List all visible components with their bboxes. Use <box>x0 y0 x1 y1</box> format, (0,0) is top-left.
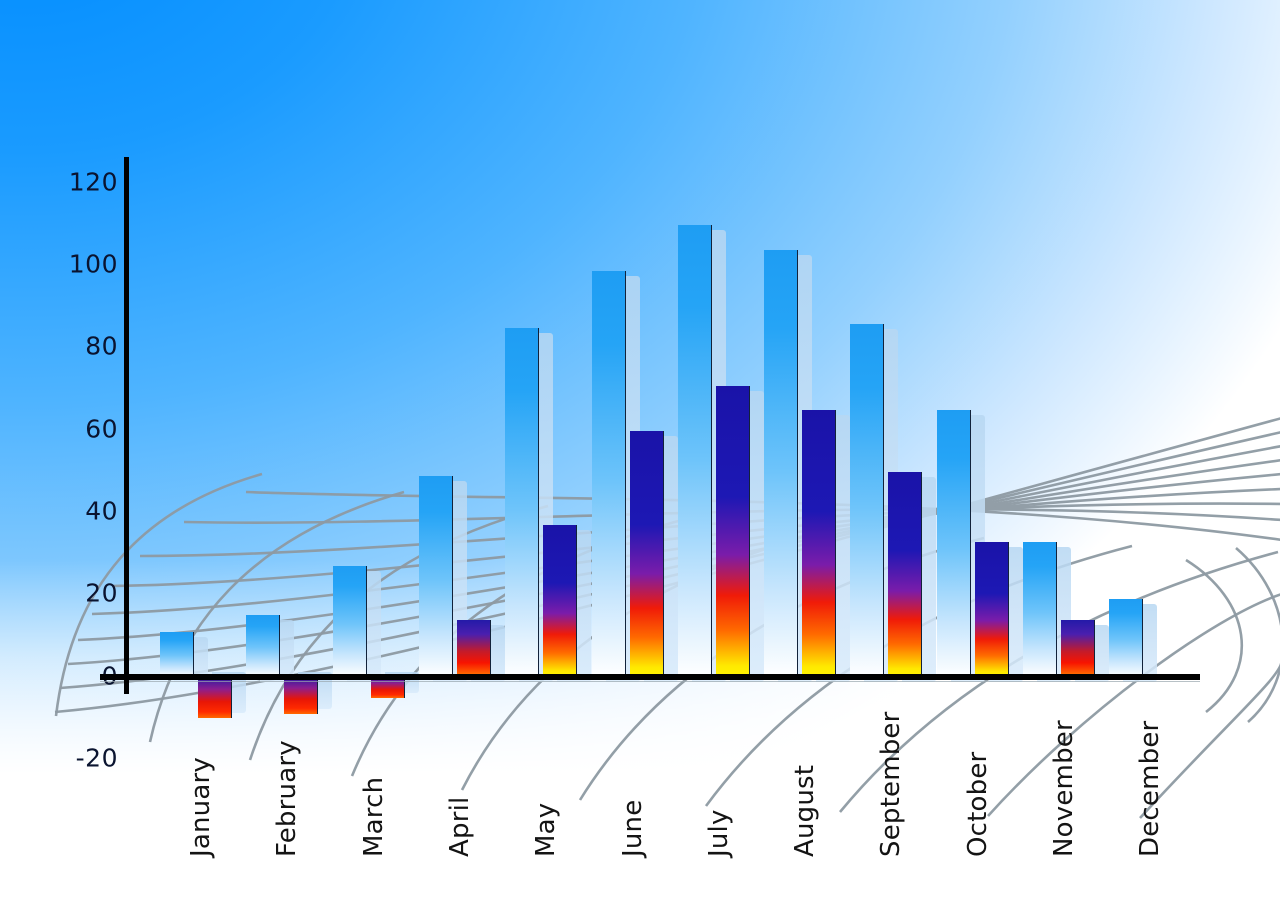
x-label-january: January <box>186 757 216 857</box>
x-label-november: November <box>1049 720 1079 857</box>
x-label-september: September <box>876 711 906 857</box>
chart-canvas: 120 100 80 60 40 20 0 -20 JanuaryFebruar… <box>0 0 1280 905</box>
category-labels: JanuaryFebruaryMarchAprilMayJuneJulyAugu… <box>0 0 1280 905</box>
x-label-december: December <box>1135 721 1165 857</box>
x-label-february: February <box>272 740 302 857</box>
x-label-august: August <box>790 765 820 857</box>
x-label-october: October <box>963 752 993 857</box>
x-label-july: July <box>704 809 734 857</box>
x-label-june: June <box>618 800 648 857</box>
x-label-april: April <box>445 797 475 857</box>
x-label-march: March <box>359 777 389 857</box>
x-label-may: May <box>531 803 561 857</box>
